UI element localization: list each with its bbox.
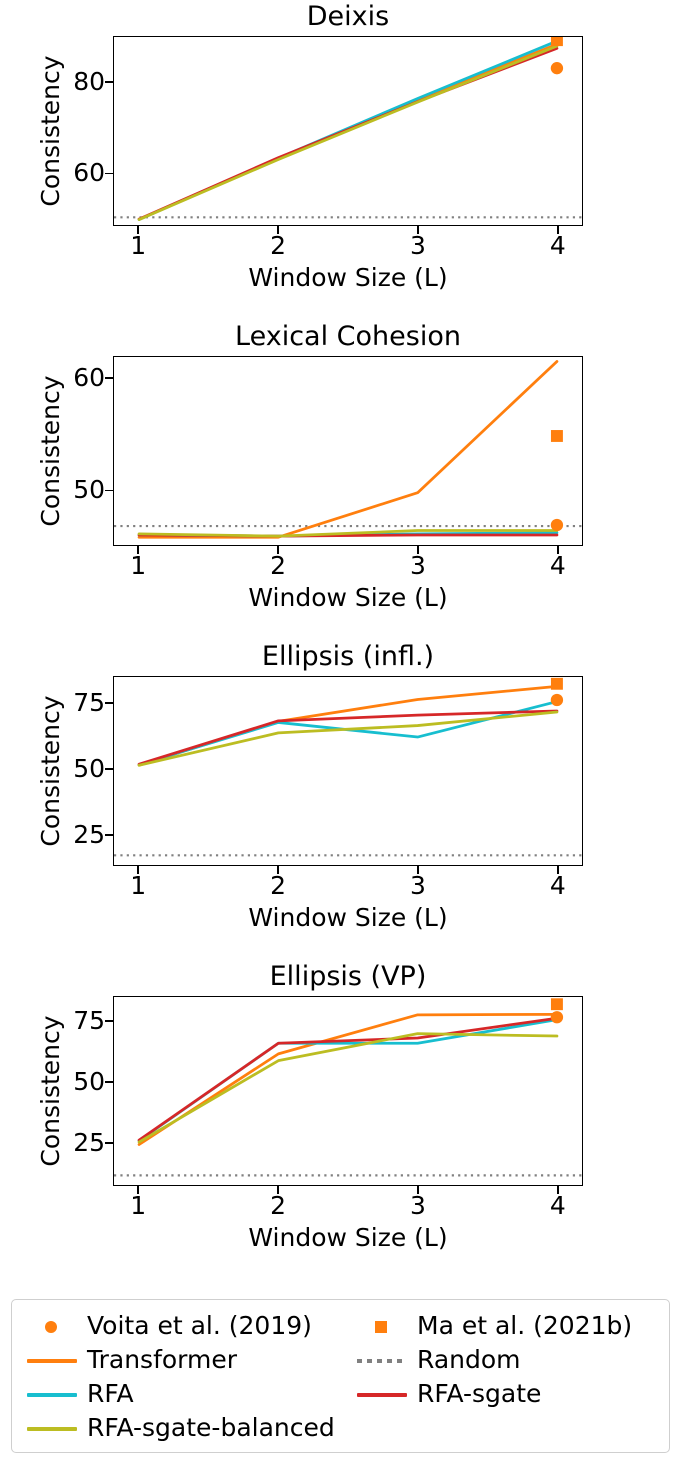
legend-symbol xyxy=(21,1377,83,1411)
chart-title: Deixis xyxy=(113,2,583,32)
y-tick-mark xyxy=(105,702,113,704)
legend-symbol xyxy=(351,1377,413,1411)
marker-ma-2021b xyxy=(551,430,563,442)
legend-symbol xyxy=(351,1309,413,1343)
y-tick-mark xyxy=(105,1081,113,1083)
y-tick-mark xyxy=(105,490,113,492)
x-tick-label: 1 xyxy=(118,1192,158,1220)
marker-voita-2019 xyxy=(551,62,563,74)
legend-label: Random xyxy=(417,1343,521,1377)
y-tick-mark xyxy=(105,1020,113,1022)
series-line-rfa-sgate xyxy=(139,1018,557,1140)
legend-symbol xyxy=(351,1343,413,1377)
series-line-transformer xyxy=(139,686,557,765)
x-tick-label: 1 xyxy=(118,232,158,260)
chart-title: Ellipsis (infl.) xyxy=(113,642,583,672)
circle-marker-icon xyxy=(45,1321,57,1333)
legend-label: RFA-sgate xyxy=(417,1377,541,1411)
x-tick-label: 4 xyxy=(538,872,578,900)
x-tick-label: 2 xyxy=(258,232,298,260)
legend-label: Transformer xyxy=(87,1343,237,1377)
plot-canvas xyxy=(114,677,582,865)
legend-symbol xyxy=(21,1309,83,1343)
x-tick-label: 4 xyxy=(538,552,578,580)
x-tick-label: 4 xyxy=(538,1192,578,1220)
chart-title: Ellipsis (VP) xyxy=(113,962,583,992)
legend-item-rfa-sgate-balanced[interactable]: RFA-sgate-balanced xyxy=(21,1411,341,1445)
legend-label: RFA-sgate-balanced xyxy=(87,1411,335,1445)
plot-canvas xyxy=(114,37,582,225)
legend-item-rfa[interactable]: RFA xyxy=(21,1377,341,1411)
x-tick-label: 3 xyxy=(398,872,438,900)
y-tick-mark xyxy=(105,834,113,836)
y-axis-label: Consistency xyxy=(34,36,68,226)
x-tick-label: 3 xyxy=(398,1192,438,1220)
legend-item-rfa-sgate[interactable]: RFA-sgate xyxy=(351,1377,661,1411)
y-axis-label: Consistency xyxy=(34,676,68,866)
chart-panel-2: Lexical Cohesion5060Consistency1234Windo… xyxy=(0,320,681,640)
marker-ma-2021b xyxy=(551,37,563,46)
series-line-rfa-sgate-balanced xyxy=(139,1034,557,1142)
solid-line-icon xyxy=(27,1393,77,1397)
y-tick-mark xyxy=(105,1142,113,1144)
dotted-line-icon xyxy=(357,1359,407,1363)
series-line-rfa-sgate-balanced xyxy=(139,46,557,220)
y-axis-label: Consistency xyxy=(34,996,68,1186)
solid-line-icon xyxy=(357,1393,407,1397)
legend-label: Ma et al. (2021b) xyxy=(417,1309,632,1343)
plot-canvas xyxy=(114,357,582,545)
y-tick-mark xyxy=(105,81,113,83)
y-tick-mark xyxy=(105,768,113,770)
chart-panel-1: Deixis6080Consistency1234Window Size (L) xyxy=(0,0,681,320)
y-tick-mark xyxy=(105,173,113,175)
legend-grid: Voita et al. (2019)Ma et al. (2021b)Tran… xyxy=(21,1309,661,1445)
y-axis-label: Consistency xyxy=(34,356,68,546)
marker-ma-2021b xyxy=(551,678,563,690)
x-tick-label: 3 xyxy=(398,232,438,260)
plot-area xyxy=(113,996,583,1186)
series-line-rfa xyxy=(139,1020,557,1141)
series-line-transformer xyxy=(139,361,557,537)
plot-canvas xyxy=(114,997,582,1185)
plot-area xyxy=(113,36,583,226)
chart-title: Lexical Cohesion xyxy=(113,322,583,352)
marker-voita-2019 xyxy=(551,519,563,531)
x-tick-label: 1 xyxy=(118,552,158,580)
x-axis-label: Window Size (L) xyxy=(113,584,583,612)
x-tick-label: 2 xyxy=(258,552,298,580)
marker-voita-2019 xyxy=(551,694,563,706)
chart-panel-3: Ellipsis (infl.)255075Consistency1234Win… xyxy=(0,640,681,960)
legend-symbol xyxy=(21,1411,83,1445)
chart-panel-4: Ellipsis (VP)255075Consistency1234Window… xyxy=(0,960,681,1280)
plot-area xyxy=(113,356,583,546)
legend-item-voita-et-al-2019[interactable]: Voita et al. (2019) xyxy=(21,1309,341,1343)
plot-area xyxy=(113,676,583,866)
x-tick-label: 2 xyxy=(258,872,298,900)
x-axis-label: Window Size (L) xyxy=(113,904,583,932)
series-line-rfa-sgate-balanced xyxy=(139,712,557,765)
x-tick-label: 3 xyxy=(398,552,438,580)
x-tick-label: 1 xyxy=(118,872,158,900)
legend-label: RFA xyxy=(87,1377,134,1411)
x-axis-label: Window Size (L) xyxy=(113,1224,583,1252)
figure-root: Deixis6080Consistency1234Window Size (L)… xyxy=(0,0,681,1464)
solid-line-icon xyxy=(27,1359,77,1363)
legend-item-transformer[interactable]: Transformer xyxy=(21,1343,341,1377)
marker-voita-2019 xyxy=(551,1011,563,1023)
marker-ma-2021b xyxy=(551,998,563,1010)
square-marker-icon xyxy=(375,1321,387,1333)
x-axis-label: Window Size (L) xyxy=(113,264,583,292)
y-tick-mark xyxy=(105,377,113,379)
legend-item-random[interactable]: Random xyxy=(351,1343,661,1377)
legend-symbol xyxy=(21,1343,83,1377)
x-tick-label: 4 xyxy=(538,232,578,260)
solid-line-icon xyxy=(27,1427,77,1431)
legend-box: Voita et al. (2019)Ma et al. (2021b)Tran… xyxy=(11,1299,670,1453)
legend-label: Voita et al. (2019) xyxy=(87,1309,312,1343)
legend-item-ma-et-al-2021b[interactable]: Ma et al. (2021b) xyxy=(351,1309,661,1343)
x-tick-label: 2 xyxy=(258,1192,298,1220)
